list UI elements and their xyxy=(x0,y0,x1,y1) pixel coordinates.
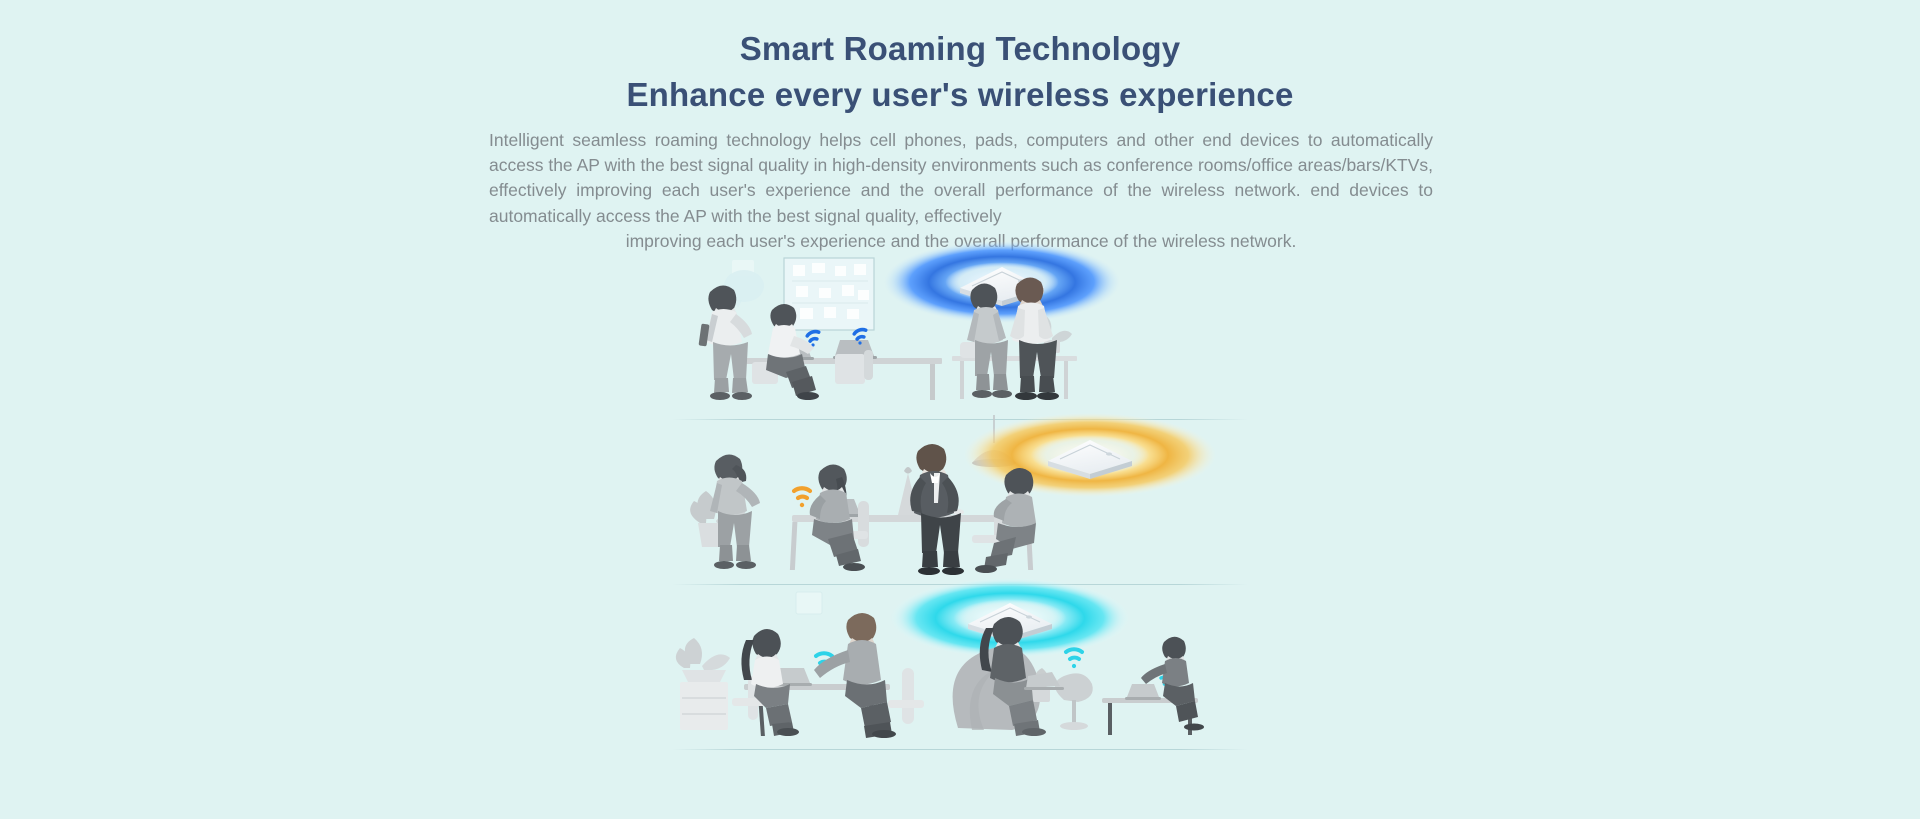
lounge-illustration xyxy=(672,580,1248,750)
person-standing-woman xyxy=(699,285,752,400)
meeting-table-illustration xyxy=(672,415,1248,585)
description-paragraph: Intelligent seamless roaming technology … xyxy=(489,128,1433,254)
person-standing-woman-left xyxy=(710,454,760,569)
plant-and-cabinet-left xyxy=(676,638,730,730)
page-title-line-1: Smart Roaming Technology xyxy=(0,26,1920,72)
access-point-amber xyxy=(964,413,1216,497)
whiteboard xyxy=(784,258,874,330)
person-seated-man-right xyxy=(1141,637,1204,731)
wifi-icon-amber xyxy=(794,488,810,507)
conference-room-scene xyxy=(672,250,1248,420)
illustration-stage xyxy=(672,250,1248,760)
lounge-scene xyxy=(672,580,1248,750)
page-header: Smart Roaming Technology Enhance every u… xyxy=(0,26,1920,118)
description-main-text: Intelligent seamless roaming technology … xyxy=(489,130,1433,226)
wall-art-frame xyxy=(796,592,822,614)
scene-floor-line xyxy=(672,749,1248,750)
conference-room-illustration xyxy=(672,250,1248,420)
person-seated-man-center xyxy=(814,613,896,738)
wifi-icon-cyan-2 xyxy=(1066,649,1082,668)
access-point-blue xyxy=(884,241,1120,323)
person-standing-man-suit xyxy=(910,444,964,575)
page-title-line-2: Enhance every user's wireless experience xyxy=(0,72,1920,118)
page-root: Smart Roaming Technology Enhance every u… xyxy=(0,0,1920,819)
meeting-table-scene xyxy=(672,415,1248,585)
